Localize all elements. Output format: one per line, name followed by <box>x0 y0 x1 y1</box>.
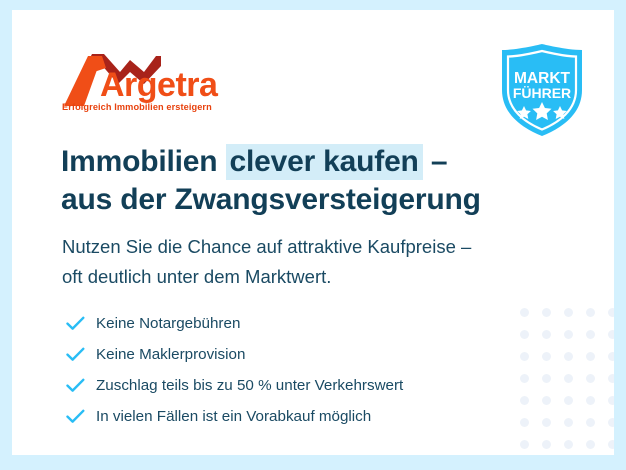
grid-dot <box>542 330 551 339</box>
grid-dot <box>608 352 614 361</box>
argetra-logo[interactable]: Argetra Erfolgreich Immobilien ersteiger… <box>58 50 248 118</box>
list-item-label: Keine Notargebühren <box>96 314 240 334</box>
headline-text-after: – <box>423 145 448 178</box>
grid-dot <box>542 440 551 449</box>
grid-dot <box>608 418 614 427</box>
check-icon <box>66 378 96 393</box>
subheadline-line-1: Nutzen Sie die Chance auf attraktive Kau… <box>62 232 562 262</box>
headline-highlight: clever kaufen <box>226 144 423 180</box>
svg-text:Argetra: Argetra <box>100 66 219 104</box>
grid-dot <box>608 330 614 339</box>
grid-dot <box>608 308 614 317</box>
grid-dot <box>586 396 595 405</box>
promo-banner: Argetra Erfolgreich Immobilien ersteiger… <box>0 0 626 470</box>
grid-dot <box>586 440 595 449</box>
grid-dot <box>520 440 529 449</box>
list-item: Keine Notargebühren <box>66 308 536 339</box>
grid-dot <box>608 440 614 449</box>
grid-dot <box>564 352 573 361</box>
list-item-label: In vielen Fällen ist ein Vorabkauf mögli… <box>96 407 371 427</box>
logo-tagline: Erfolgreich Immobilien ersteigern <box>62 102 212 112</box>
grid-dot <box>542 352 551 361</box>
banner-card: Argetra Erfolgreich Immobilien ersteiger… <box>12 10 614 455</box>
list-item: Keine Maklerprovision <box>66 339 536 370</box>
grid-dot <box>586 352 595 361</box>
grid-dot <box>542 374 551 383</box>
headline-line-2: aus der Zwangsversteigerung <box>61 181 561 219</box>
grid-dot <box>586 308 595 317</box>
grid-dot <box>564 330 573 339</box>
grid-dot <box>542 308 551 317</box>
markt-fuehrer-badge: MARKT FÜHRER <box>496 42 588 138</box>
headline-line-1: Immobilien clever kaufen – <box>61 143 561 181</box>
grid-dot <box>542 418 551 427</box>
list-item: In vielen Fällen ist ein Vorabkauf mögli… <box>66 401 536 432</box>
list-item-label: Keine Maklerprovision <box>96 345 245 365</box>
grid-dot <box>564 418 573 427</box>
grid-dot <box>608 396 614 405</box>
list-item-label: Zuschlag teils bis zu 50 % unter Verkehr… <box>96 376 403 396</box>
grid-dot <box>586 330 595 339</box>
grid-dot <box>608 374 614 383</box>
headline: Immobilien clever kaufen – aus der Zwang… <box>61 143 561 219</box>
grid-dot <box>564 308 573 317</box>
check-icon <box>66 347 96 362</box>
benefit-list: Keine Notargebühren Keine Maklerprovisio… <box>66 308 536 432</box>
headline-text-before: Immobilien <box>61 145 226 178</box>
subheadline: Nutzen Sie die Chance auf attraktive Kau… <box>62 232 562 292</box>
grid-dot <box>564 396 573 405</box>
grid-dot <box>564 374 573 383</box>
subheadline-line-2: oft deutlich unter dem Marktwert. <box>62 262 562 292</box>
grid-dot <box>564 440 573 449</box>
badge-line2: FÜHRER <box>513 85 571 101</box>
check-icon <box>66 409 96 424</box>
grid-dot <box>542 396 551 405</box>
grid-dot <box>586 418 595 427</box>
grid-dot <box>586 374 595 383</box>
check-icon <box>66 316 96 331</box>
list-item: Zuschlag teils bis zu 50 % unter Verkehr… <box>66 370 536 401</box>
